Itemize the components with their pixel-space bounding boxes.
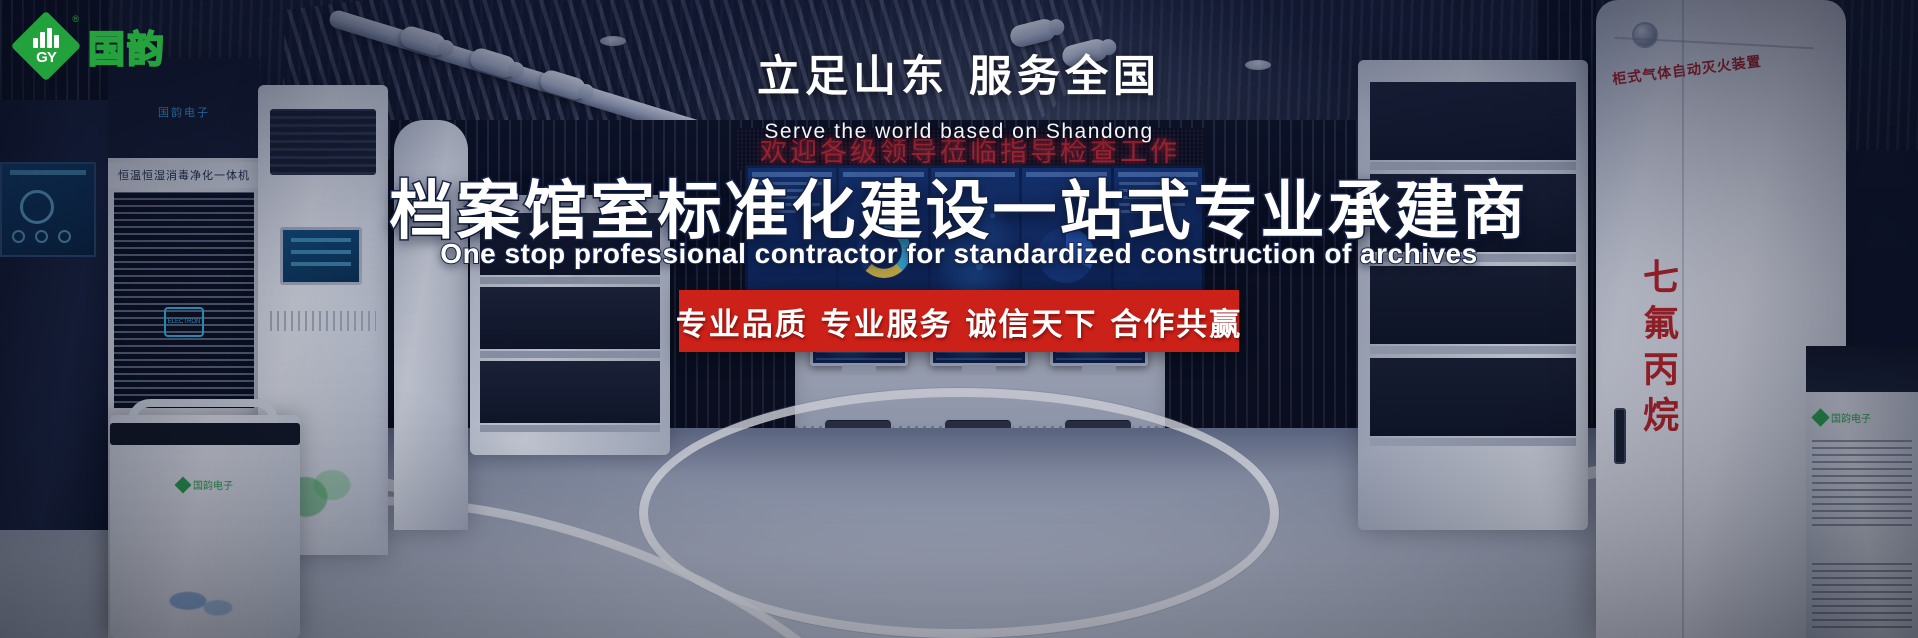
red-tagline-banner: 专业品质 专业服务 诚信天下 合作共赢 bbox=[679, 290, 1239, 352]
red-tagline-text: 专业品质 专业服务 诚信天下 合作共赢 bbox=[676, 299, 1242, 344]
slogan-chinese: 立足山东 服务全国 bbox=[0, 42, 1918, 104]
trademark-symbol: ® bbox=[72, 14, 79, 24]
headline-english: One stop professional contractor for sta… bbox=[0, 238, 1918, 270]
hero-banner: 欢迎各级领导莅临指导检查工作 bbox=[0, 0, 1918, 638]
banner-overlay: GY ® 国韵 立足山东 服务全国 Serve the world based … bbox=[0, 0, 1918, 638]
slogan-english: Serve the world based on Shandong bbox=[0, 120, 1918, 144]
